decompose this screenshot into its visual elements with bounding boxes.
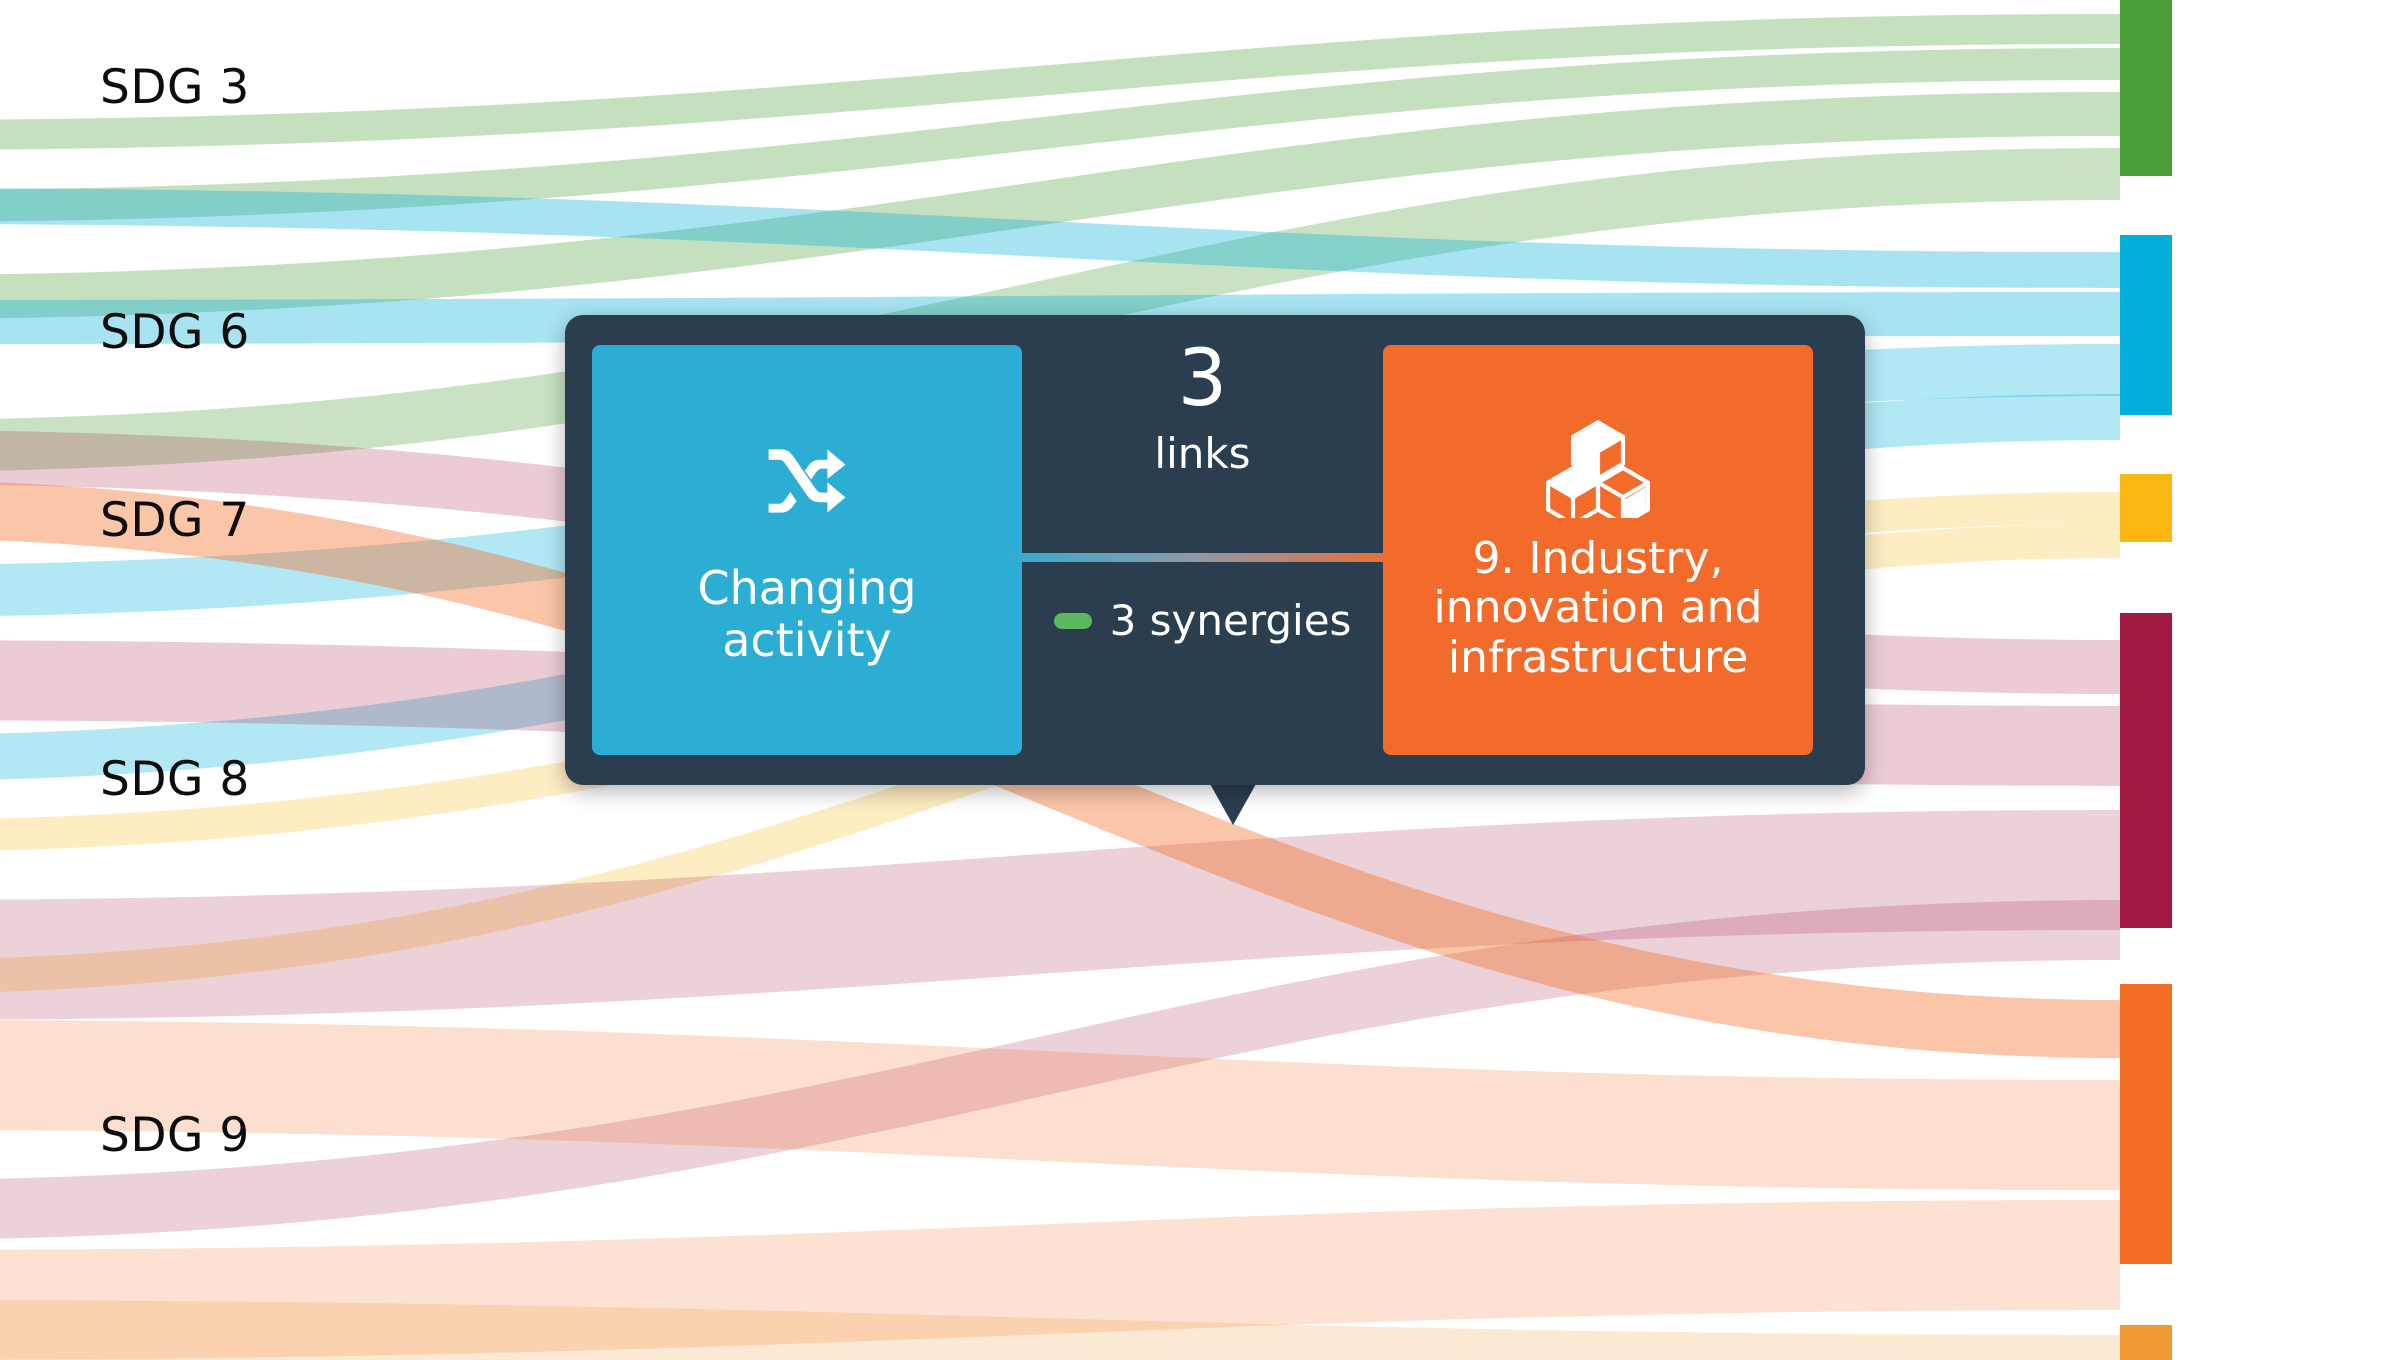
tooltip-target-line2: innovation and — [1434, 583, 1763, 632]
shuffle-icon — [748, 433, 866, 533]
link-count-unit: links — [1022, 433, 1383, 475]
sdg-node-label-sdg6: SDG 6 — [100, 305, 250, 360]
sdg-node-bar — [2120, 984, 2172, 1264]
sdg-node-label-sdg7: SDG 7 — [100, 493, 250, 548]
sdg-node-sdg-extra[interactable] — [2120, 1325, 2172, 1360]
tooltip-target-line3: infrastructure — [1434, 633, 1763, 682]
link-count-value: 3 — [1022, 340, 1383, 418]
tooltip-source-line2: activity — [698, 615, 917, 667]
tooltip-source-label: Changing activity — [686, 563, 929, 667]
sdg-node-label-sdg8: SDG 8 — [100, 752, 250, 807]
sdg-node-label-sdg3: SDG 3 — [100, 60, 250, 115]
tooltip-source-tile[interactable]: Changing activity — [592, 345, 1022, 755]
sdg-node-sdg7[interactable] — [2120, 474, 2172, 542]
synergy-label: 3 synergies — [1110, 600, 1352, 642]
connector-line — [995, 553, 1410, 562]
sdg-node-bar — [2120, 474, 2172, 542]
sdg-node-bar — [2120, 1325, 2172, 1360]
tooltip-target-tile[interactable]: 9. Industry, innovation and infrastructu… — [1383, 345, 1813, 755]
sdg-node-sdg3[interactable] — [2120, 0, 2172, 176]
link-tooltip-card: Changing activity 3 links 3 synergies — [565, 315, 1865, 785]
sankey-diagram: SDG 3 SDG 6 SDG 7 SDG 8 SDG 9 — [0, 0, 2400, 1360]
sdg-node-bar — [2120, 235, 2172, 415]
sdg-node-sdg9[interactable] — [2120, 984, 2172, 1264]
tooltip-target-label: 9. Industry, innovation and infrastructu… — [1422, 534, 1775, 682]
tooltip-source-line1: Changing — [698, 563, 917, 615]
sdg-node-sdg6[interactable] — [2120, 235, 2172, 415]
sdg-node-label-sdg9: SDG 9 — [100, 1108, 250, 1163]
sdg-node-sdg8[interactable] — [2120, 613, 2172, 928]
sdg-node-bar — [2120, 0, 2172, 176]
tooltip-center-column: 3 links 3 synergies — [1022, 345, 1383, 755]
sdg-node-bar — [2120, 613, 2172, 928]
tooltip-target-line1: 9. Industry, — [1434, 534, 1763, 583]
cubes-icon — [1546, 418, 1650, 522]
synergy-dash-icon — [1054, 613, 1092, 629]
synergy-row: 3 synergies — [1022, 600, 1383, 642]
